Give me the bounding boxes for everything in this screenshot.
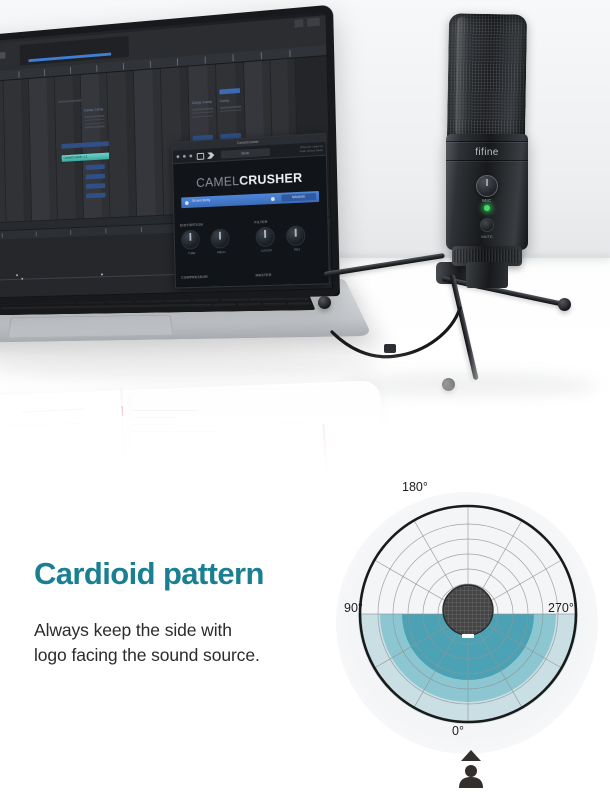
laptop: Comp Comp -2.1h: [0, 4, 374, 404]
polar-label-90: 90°: [344, 601, 363, 615]
feature-subtext-line1: Always keep the side with: [34, 620, 232, 640]
polar-label-270: 270°: [548, 601, 574, 615]
feature-section: Cardioid pattern Always keep the side wi…: [0, 470, 610, 800]
laptop-lid: Comp Comp -2.1h: [0, 5, 340, 306]
screen-bezel: [0, 5, 340, 306]
usb-cable: [330, 306, 490, 370]
mute-button[interactable]: [480, 218, 494, 232]
microphone-body: fifine MIC MUTE: [446, 134, 528, 250]
mute-button-label: MUTE: [446, 234, 528, 239]
power-led-indicator: [484, 205, 490, 211]
polar-label-180: 180°: [402, 480, 428, 494]
fifine-usb-microphone: fifine MIC MUTE: [426, 14, 544, 294]
gain-knob-label: MIC: [446, 198, 528, 203]
tripod-foot: [558, 298, 571, 311]
fifine-logo: fifine: [446, 147, 528, 158]
capsule-notch: [462, 634, 474, 638]
laptop-trackpad: [8, 315, 174, 338]
microphone-mount-yoke: [466, 262, 508, 288]
tripod-foot: [442, 378, 455, 391]
feature-subtext-line2: logo facing the sound source.: [34, 645, 260, 665]
microphone-capsule-icon: [443, 585, 493, 635]
product-photo-scene: Comp Comp -2.1h: [0, 0, 610, 470]
open-notebook: [0, 388, 382, 470]
polar-label-0: 0°: [452, 724, 464, 738]
sound-source-person-icon: [455, 748, 487, 788]
microphone-grille: [447, 13, 527, 140]
feature-subtext: Always keep the side with logo facing th…: [34, 618, 260, 668]
product-infographic-page: Comp Comp -2.1h: [0, 0, 610, 800]
gain-knob[interactable]: [476, 175, 498, 197]
feature-heading: Cardioid pattern: [34, 556, 264, 592]
notebook-right-page: [131, 387, 379, 470]
